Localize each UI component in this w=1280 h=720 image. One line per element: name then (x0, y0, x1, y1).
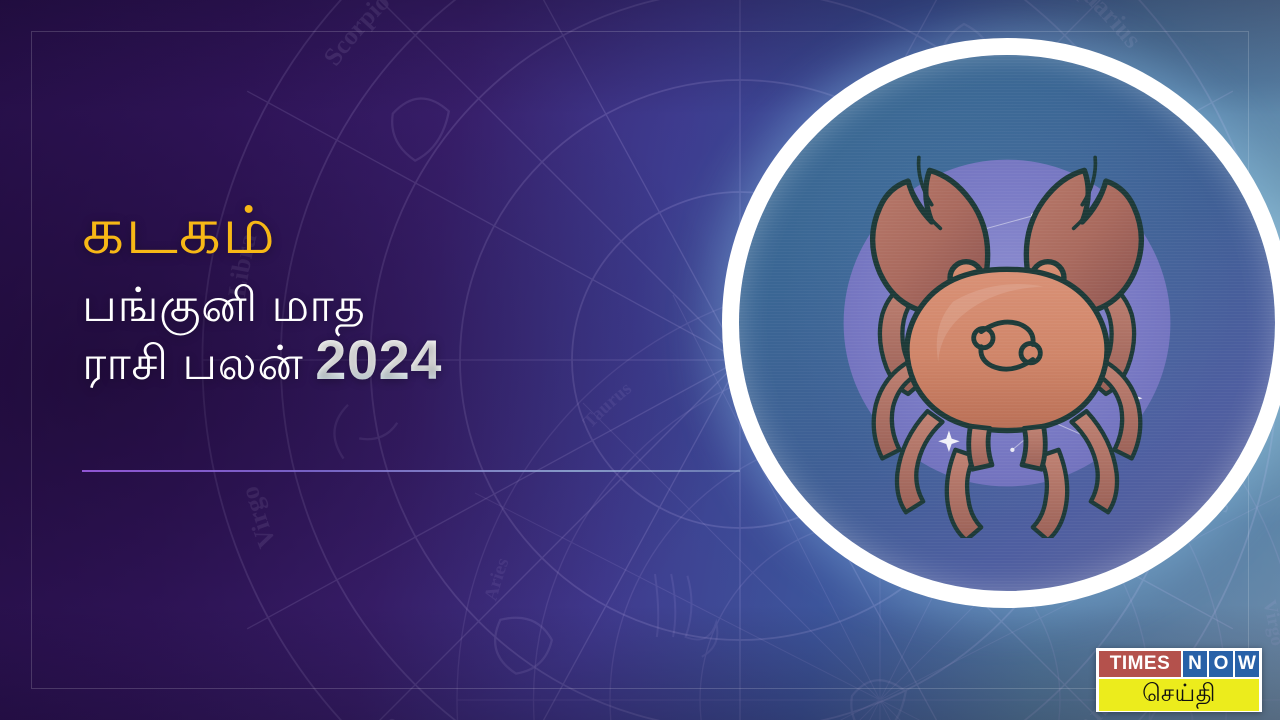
svg-text:Scorpio: Scorpio (318, 0, 396, 71)
logo-letter-o: O (1209, 651, 1233, 677)
subtitle-line-2-row: ராசி பலன்2024 (82, 329, 782, 392)
subtitle-line-1: பங்குனி மாத (82, 279, 782, 332)
year-label: 2024 (315, 328, 442, 391)
logo-tamil-text: செய்தி (1099, 679, 1259, 711)
svg-text:Aries: Aries (480, 555, 513, 603)
logo-times-text: TIMES (1099, 651, 1181, 677)
headline-divider (82, 470, 740, 472)
headline-block: கடகம் பங்குனி மாத ராசி பலன்2024 (82, 196, 782, 392)
zodiac-sign-title: கடகம் (82, 196, 782, 265)
times-now-seithi-logo: TIMES N O W செய்தி (1096, 648, 1262, 712)
subtitle-line-2-text: ராசி பலன் (82, 336, 303, 389)
svg-text:Leo: Leo (375, 712, 426, 720)
svg-text:Virgo: Virgo (235, 483, 282, 552)
zodiac-medallion (722, 38, 1280, 608)
logo-letter-w: W (1235, 651, 1259, 677)
horoscope-banner: Capricorn Aquarius Pisces Aries Taurus G… (0, 0, 1280, 720)
logo-top-row: TIMES N O W (1099, 651, 1259, 677)
medallion-white-ring (722, 38, 1280, 608)
logo-letter-n: N (1183, 651, 1207, 677)
